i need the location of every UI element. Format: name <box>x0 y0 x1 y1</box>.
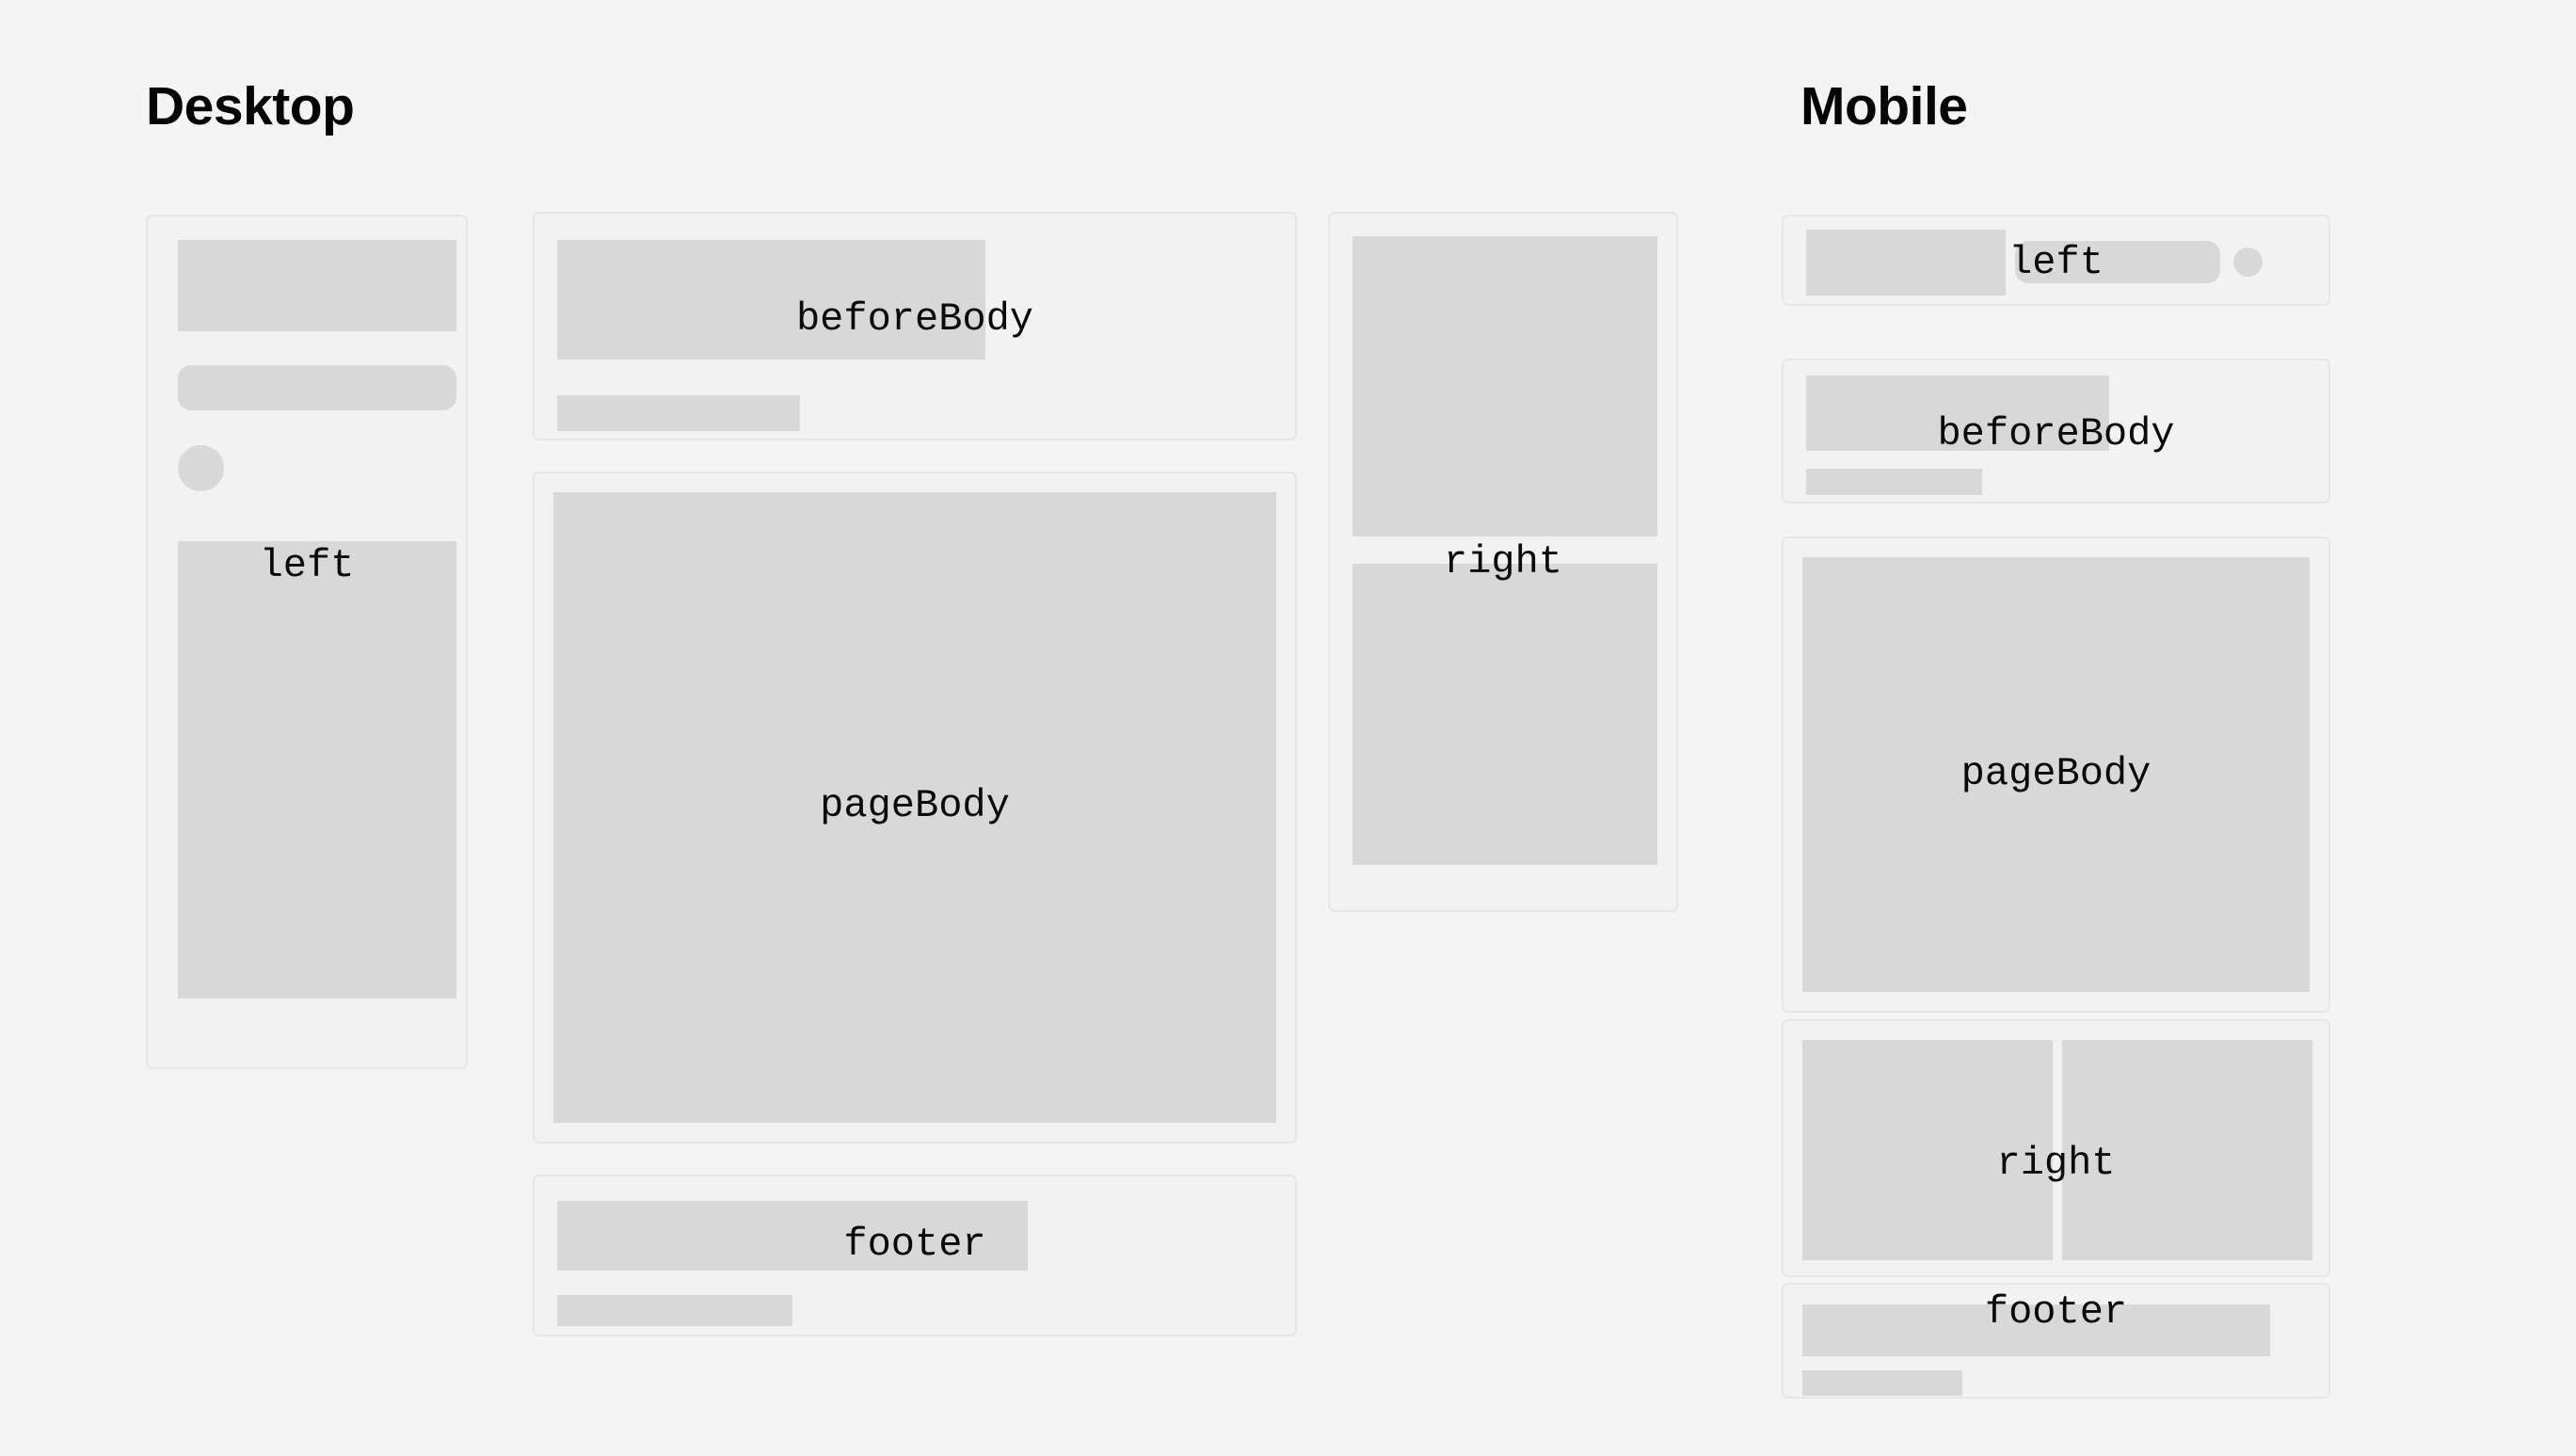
circle-block <box>2233 248 2263 277</box>
desktop-section-heading: Desktop <box>146 80 354 134</box>
rect-block <box>178 240 456 331</box>
desktop-pagebody-slot-card[interactable] <box>533 472 1297 1144</box>
rect-block <box>1806 230 2006 296</box>
right-column-block <box>2062 1040 2312 1260</box>
wide-bar-block <box>1802 1304 2270 1356</box>
desktop-right-slot-card[interactable] <box>1328 212 1678 912</box>
tall-block <box>178 541 456 999</box>
mobile-beforebody-slot-card[interactable] <box>1782 359 2330 504</box>
mobile-section-heading: Mobile <box>1800 80 1968 134</box>
large-block <box>1802 557 2310 992</box>
desktop-left-slot-card[interactable] <box>146 215 468 1069</box>
mobile-right-slot-card[interactable] <box>1782 1019 2330 1277</box>
wide-bar-block <box>557 1201 1028 1271</box>
mobile-footer-slot-card[interactable] <box>1782 1283 2330 1399</box>
pill-block <box>2015 241 2220 283</box>
small-bar-block <box>557 395 800 431</box>
circle-block <box>178 445 224 491</box>
pill-block <box>178 365 456 410</box>
mobile-pagebody-slot-card[interactable] <box>1782 536 2330 1013</box>
rect-block <box>557 240 985 360</box>
left-column-block <box>1802 1040 2053 1260</box>
desktop-beforebody-slot-card[interactable] <box>533 212 1297 440</box>
upper-block <box>1352 236 1657 536</box>
rect-block <box>1806 376 2109 451</box>
lower-block <box>1352 564 1657 865</box>
small-bar-block <box>1806 469 1982 495</box>
small-bar-block <box>557 1295 792 1326</box>
layout-preview-canvas: Desktop left beforeBody pageBody footer … <box>0 0 2576 1456</box>
large-block <box>553 492 1276 1123</box>
mobile-left-slot-card[interactable] <box>1782 215 2330 306</box>
small-bar-block <box>1802 1370 1962 1396</box>
desktop-footer-slot-card[interactable] <box>533 1175 1297 1336</box>
